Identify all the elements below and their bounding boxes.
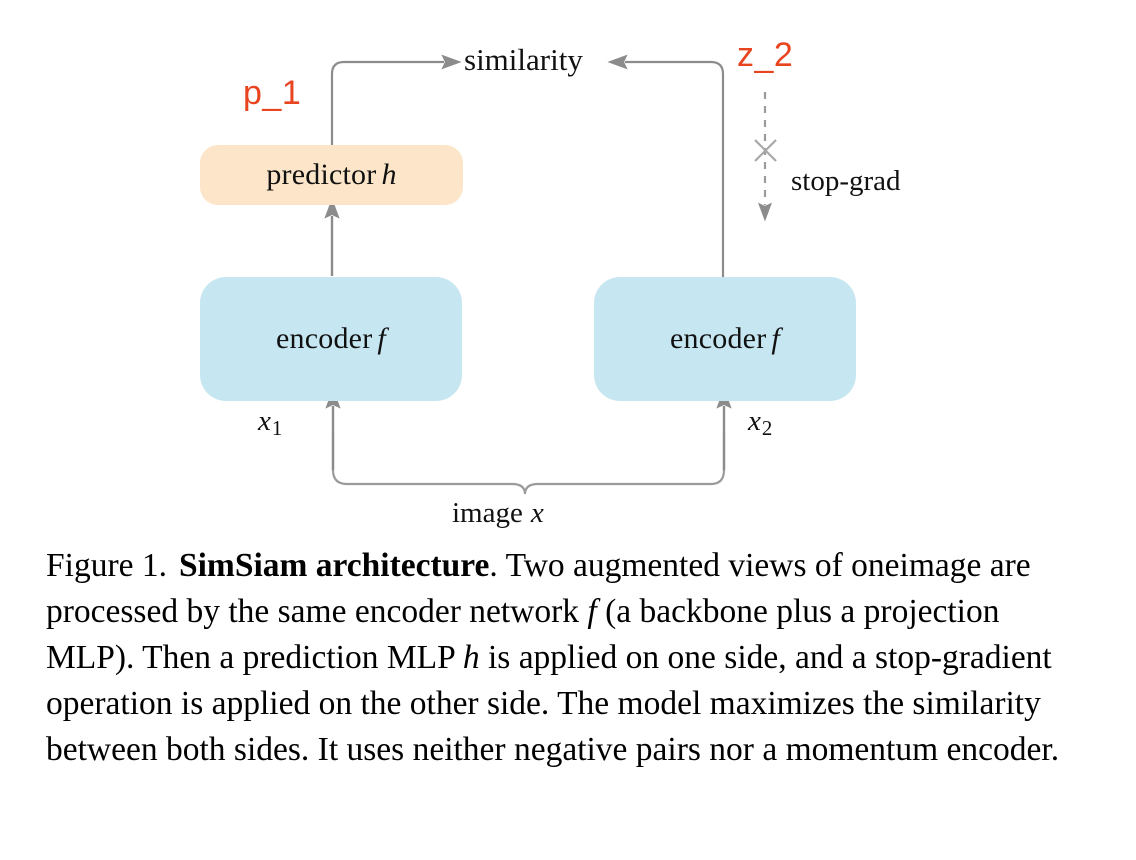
label-p1: p_1 — [243, 74, 301, 113]
node-encoder-right-math: f — [766, 322, 780, 355]
arrow-predictor-to-similarity — [332, 62, 444, 146]
caption-title: SimSiam architecture — [179, 547, 489, 584]
caption-math-h: h — [463, 639, 480, 676]
node-predictor-label: predictorh — [266, 158, 396, 192]
arrow-encoder-right-to-similarity — [625, 62, 723, 278]
node-encoder-right-label: encoderf — [670, 322, 780, 356]
caption-math-f: f — [587, 593, 596, 630]
label-image-x: imagex — [452, 497, 544, 530]
label-z2: z_2 — [737, 36, 793, 75]
node-encoder-left[interactable]: encoderf — [200, 277, 462, 401]
node-predictor[interactable]: predictorh — [200, 145, 463, 205]
caption-prefix: Figure 1. — [46, 547, 167, 584]
brace-image-to-views — [333, 432, 724, 494]
caption-line1-rest: . Two augmented views of one — [489, 547, 899, 584]
label-x1: x1 — [258, 405, 282, 441]
label-stop-grad: stop-grad — [791, 165, 901, 198]
diagram-connectors — [0, 0, 1136, 545]
node-encoder-left-label: encoderf — [276, 322, 386, 356]
simsiam-architecture-diagram: predictorh encoderf encoderf p_1 z_2 sim… — [0, 0, 1136, 545]
node-encoder-right[interactable]: encoderf — [594, 277, 856, 401]
label-similarity: similarity — [464, 42, 583, 78]
figure-page: predictorh encoderf encoderf p_1 z_2 sim… — [0, 0, 1136, 860]
stop-gradient-cross-icon — [755, 140, 776, 161]
node-predictor-math: h — [376, 158, 396, 191]
figure-caption: Figure 1.SimSiam architecture. Two augme… — [46, 543, 1092, 773]
node-encoder-left-math: f — [372, 322, 386, 355]
label-x2: x2 — [748, 405, 772, 441]
